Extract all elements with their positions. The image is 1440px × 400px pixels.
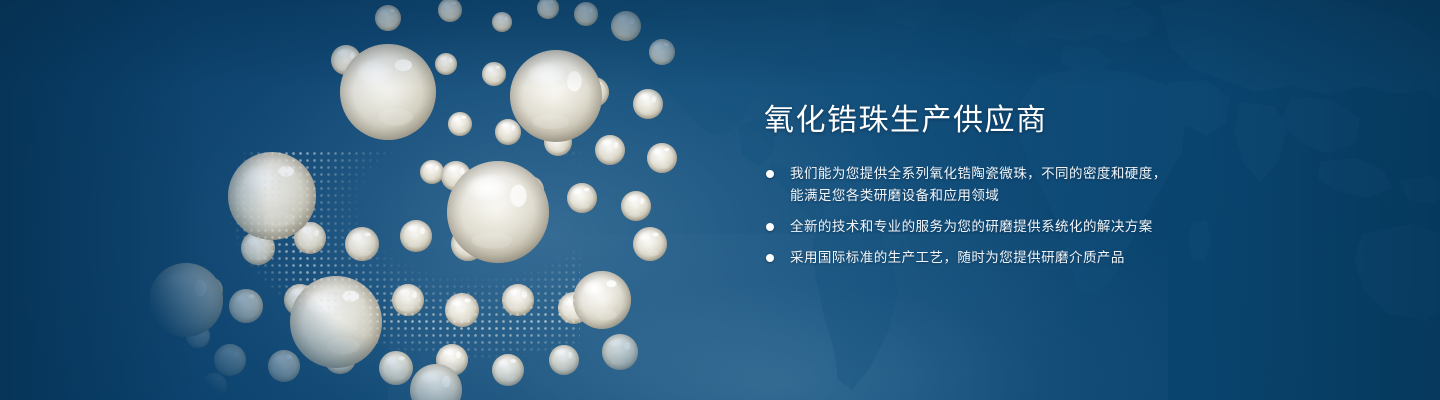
- bullet-item: 全新的技术和专业的服务为您的研磨提供系统化的解决方案: [764, 216, 1224, 238]
- bullet-dot-icon: [766, 170, 774, 178]
- bullet-dot-icon: [766, 254, 774, 262]
- banner-background-gradient: [0, 0, 1440, 400]
- bullet-item: 我们能为您提供全系列氧化锆陶瓷微珠，不同的密度和硬度， 能满足您各类研磨设备和应…: [764, 163, 1224, 207]
- bullet-line: 我们能为您提供全系列氧化锆陶瓷微珠，不同的密度和硬度，: [790, 163, 1224, 185]
- bullet-line: 采用国际标准的生产工艺，随时为您提供研磨介质产品: [790, 247, 1224, 269]
- banner-headline: 氧化锆珠生产供应商: [764, 104, 1224, 137]
- bullet-line: 全新的技术和专业的服务为您的研磨提供系统化的解决方案: [790, 216, 1224, 238]
- banner-copy: 氧化锆珠生产供应商 我们能为您提供全系列氧化锆陶瓷微珠，不同的密度和硬度， 能满…: [764, 104, 1224, 269]
- bullet-dot-icon: [766, 223, 774, 231]
- bullet-line: 能满足您各类研磨设备和应用领域: [790, 185, 1224, 207]
- banner-bullet-list: 我们能为您提供全系列氧化锆陶瓷微珠，不同的密度和硬度， 能满足您各类研磨设备和应…: [764, 163, 1224, 269]
- hero-banner: 氧化锆珠生产供应商 我们能为您提供全系列氧化锆陶瓷微珠，不同的密度和硬度， 能满…: [0, 0, 1440, 400]
- bullet-item: 采用国际标准的生产工艺，随时为您提供研磨介质产品: [764, 247, 1224, 269]
